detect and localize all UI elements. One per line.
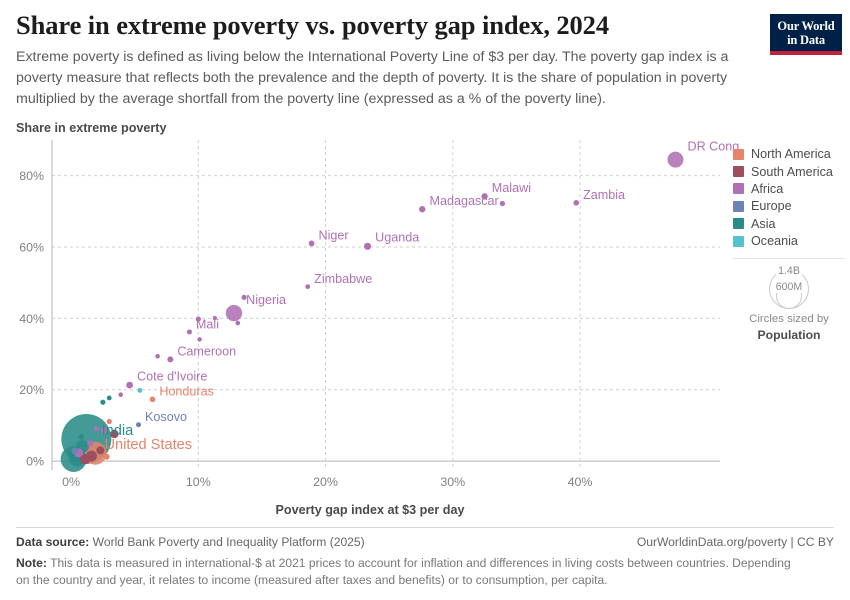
owid-logo[interactable]: Our World in Data <box>770 14 842 55</box>
data-point[interactable] <box>187 329 192 334</box>
legend-swatch-icon <box>733 166 744 177</box>
data-point[interactable] <box>137 388 142 393</box>
legend-swatch-icon <box>733 201 744 212</box>
footer-source-row: Data source: World Bank Poverty and Ineq… <box>16 535 834 549</box>
point-label-nigeria: Nigeria <box>246 293 286 307</box>
footer-divider <box>16 527 834 528</box>
legend-item-label: South America <box>751 165 833 179</box>
data-point[interactable] <box>107 396 112 401</box>
y-tick-label: 0% <box>26 455 44 469</box>
owid-logo-line2: in Data <box>774 33 838 47</box>
point-label-mali: Mali <box>196 317 219 331</box>
point-label-honduras: Honduras <box>159 385 214 399</box>
legend-item-north-america[interactable]: North America <box>733 146 845 162</box>
data-point[interactable] <box>573 200 579 206</box>
point-label-zambia: Zambia <box>583 188 625 202</box>
data-point[interactable] <box>72 447 79 454</box>
size-legend-caption: Circles sized by Population <box>733 312 845 345</box>
data-point[interactable] <box>500 201 505 206</box>
data-point[interactable] <box>136 422 141 427</box>
x-tick-label: 30% <box>440 475 465 489</box>
scatter-plot: 0%20%40%60%80%0%10%20%30%40%DR CongoMala… <box>0 130 740 490</box>
data-point[interactable] <box>104 454 110 460</box>
data-point[interactable] <box>167 356 173 362</box>
point-label-cote-d-ivoire: Cote d'Ivoire <box>137 370 207 384</box>
data-point[interactable] <box>155 354 160 359</box>
data-point[interactable] <box>94 427 99 432</box>
legend-item-asia[interactable]: Asia <box>733 216 845 232</box>
data-point[interactable] <box>150 397 156 403</box>
data-point[interactable] <box>87 440 93 446</box>
point-label-niger: Niger <box>318 229 348 243</box>
y-tick-label: 20% <box>19 383 44 397</box>
legend-swatch-icon <box>733 236 744 247</box>
legend-swatch-icon <box>733 149 744 160</box>
legend-item-africa[interactable]: Africa <box>733 181 845 197</box>
data-source: Data source: World Bank Poverty and Ineq… <box>16 535 365 549</box>
legend-item-label: Oceania <box>751 234 798 248</box>
data-point[interactable] <box>126 382 133 389</box>
legend-swatch-icon <box>733 183 744 194</box>
y-tick-label: 40% <box>19 312 44 326</box>
size-legend-bubbles: 1.4B 600M <box>759 267 819 309</box>
legend-item-label: North America <box>751 147 831 161</box>
x-tick-label: 20% <box>313 475 338 489</box>
point-label-united-states: United States <box>104 437 192 453</box>
data-point[interactable] <box>309 241 315 247</box>
size-legend-caption-text: Circles sized by <box>749 313 829 325</box>
data-point[interactable] <box>667 152 683 168</box>
data-point[interactable] <box>96 446 104 454</box>
point-label-zimbabwe: Zimbabwe <box>314 272 372 286</box>
data-point[interactable] <box>419 206 425 212</box>
data-point[interactable] <box>197 337 202 342</box>
data-point[interactable] <box>118 392 123 397</box>
data-point[interactable] <box>226 305 242 321</box>
footer-note-label: Note: <box>16 556 47 570</box>
x-tick-label: 10% <box>186 475 211 489</box>
legend-item-label: Asia <box>751 217 776 231</box>
size-legend-metric: Population <box>758 328 821 342</box>
chart-footer: Data source: World Bank Poverty and Ineq… <box>16 527 834 589</box>
legend-item-label: Europe <box>751 199 792 213</box>
footer-note-text: This data is measured in international-$… <box>16 556 791 587</box>
point-label-madagascar: Madagascar <box>429 194 498 208</box>
data-source-label: Data source: <box>16 535 89 549</box>
size-legend-upper-label: 1.4B <box>776 265 802 277</box>
owid-logo-line1: Our World <box>774 19 838 33</box>
y-tick-label: 60% <box>19 241 44 255</box>
chart-subtitle: Extreme poverty is defined as living bel… <box>16 47 743 110</box>
size-legend-lower-label: 600M <box>774 281 805 293</box>
footer-note: Note: This data is measured in internati… <box>16 555 806 589</box>
data-point[interactable] <box>364 243 371 250</box>
y-tick-label: 80% <box>19 169 44 183</box>
plot-canvas: 0%20%40%60%80%0%10%20%30%40%DR CongoMala… <box>0 130 740 490</box>
point-label-cameroon: Cameroon <box>177 344 236 358</box>
legend-item-south-america[interactable]: South America <box>733 163 845 179</box>
page-title: Share in extreme poverty vs. poverty gap… <box>16 10 746 40</box>
size-legend: 1.4B 600M Circles sized by Population <box>733 258 845 345</box>
continent-legend: North AmericaSouth AmericaAfricaEuropeAs… <box>733 146 845 250</box>
chart-page: Share in extreme poverty vs. poverty gap… <box>0 0 850 600</box>
x-tick-label: 0% <box>62 475 80 489</box>
legend-swatch-icon <box>733 218 744 229</box>
legend-item-europe[interactable]: Europe <box>733 198 845 214</box>
point-label-uganda: Uganda <box>375 231 419 245</box>
data-point[interactable] <box>78 434 84 440</box>
data-point[interactable] <box>305 284 310 289</box>
point-label-kosovo: Kosovo <box>145 410 187 424</box>
legend-item-label: Africa <box>751 182 783 196</box>
legend-item-oceania[interactable]: Oceania <box>733 233 845 249</box>
data-source-text: World Bank Poverty and Inequality Platfo… <box>93 535 365 549</box>
attribution-link[interactable]: OurWorldinData.org/poverty | CC BY <box>637 535 834 549</box>
x-axis-title: Poverty gap index at $3 per day <box>0 503 740 517</box>
data-point[interactable] <box>235 321 240 326</box>
x-tick-label: 40% <box>568 475 593 489</box>
chart-header: Share in extreme poverty vs. poverty gap… <box>16 10 746 110</box>
data-point[interactable] <box>100 400 105 405</box>
